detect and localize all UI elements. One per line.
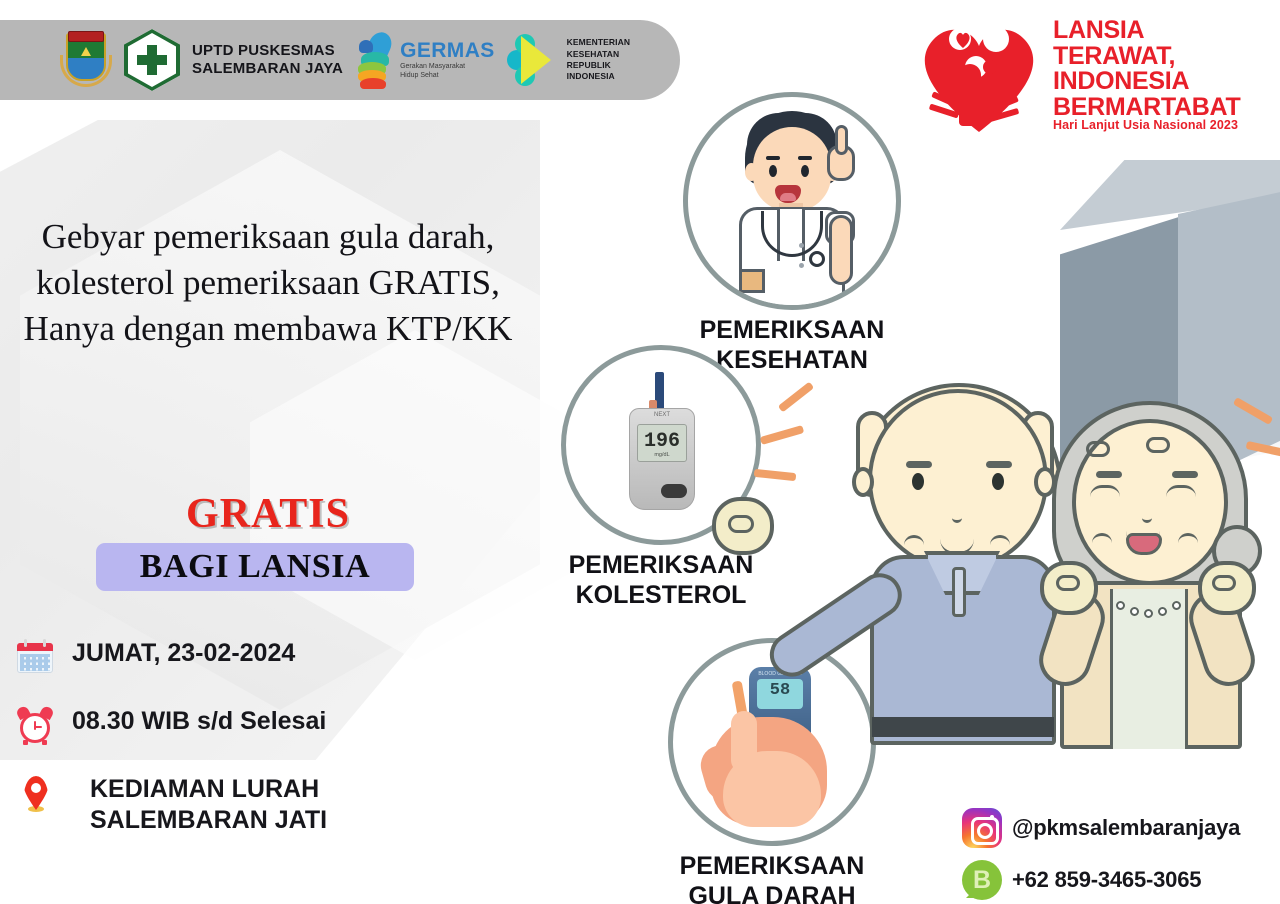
event-time-text: 08.30 WIB s/d Selesai (72, 704, 326, 737)
germas-sub-line-2: Hidup Sehat (400, 72, 495, 81)
map-pin-icon (14, 772, 56, 814)
main-headline: Gebyar pemeriksaan gula darah, kolestero… (18, 214, 518, 353)
campaign-line-3: INDONESIA (1053, 69, 1240, 95)
bagi-lansia-badge: BAGI LANSIA (96, 543, 414, 591)
event-details: JUMAT, 23-02-2024 08.30 WIB s/d Selesai … (14, 636, 484, 863)
campaign-wordmark: LANSIA TERAWAT, INDONESIA BERMARTABAT (1053, 18, 1240, 120)
puskesmas-logo (124, 29, 180, 91)
kemenkes-line-4: INDONESIA (567, 71, 630, 82)
kemenkes-line-3: REPUBLIK (567, 60, 630, 71)
event-location-row: KEDIAMAN LURAH SALEMBARAN JATI (14, 772, 484, 837)
alarm-clock-icon (14, 704, 56, 746)
calendar-icon (14, 636, 56, 678)
heart-family-icon (905, 6, 1055, 134)
instagram-row[interactable]: @pkmsalembaranjaya (962, 808, 1274, 848)
whatsapp-number[interactable]: +62 859-3465-3065 (1012, 867, 1201, 893)
kabupaten-crest-icon (60, 29, 112, 91)
campaign-line-2: TERAWAT, (1053, 44, 1240, 70)
campaign-line-1: LANSIA (1053, 18, 1240, 44)
campaign-logo: LANSIA TERAWAT, INDONESIA BERMARTABAT Ha… (905, 6, 1280, 136)
service-cholesterol-check: NEXT 196 mg/dL PEMERIKSAAN KOLESTEROL (546, 345, 776, 610)
puskesmas-hexagon-cross-icon (124, 29, 180, 91)
gratis-heading: GRATIS (18, 490, 518, 538)
kemenkes-line-2: KESEHATAN (567, 49, 630, 60)
puskesmas-line-2: SALEMBARAN JAYA (192, 60, 343, 78)
event-time-row: 08.30 WIB s/d Selesai (14, 704, 484, 746)
contact-block: @pkmsalembaranjaya B +62 859-3465-3065 (962, 808, 1274, 904)
cholesterol-reading: 196 (639, 430, 685, 453)
germas-figure-icon (355, 32, 395, 88)
event-location-text: KEDIAMAN LURAH SALEMBARAN JATI (72, 772, 484, 837)
kemenkes-line-1: KEMENTERIAN (567, 37, 630, 48)
whatsapp-business-icon[interactable]: B (962, 860, 1002, 900)
campaign-line-4: BERMARTABAT (1053, 95, 1240, 121)
event-date-row: JUMAT, 23-02-2024 (14, 636, 484, 678)
service-glucose-caption: PEMERIKSAAN GULA DARAH (652, 852, 892, 904)
campaign-subtitle: Hari Lanjut Usia Nasional 2023 (1053, 118, 1238, 132)
doctor-icon (683, 92, 901, 310)
kemenkes-logo: KEMENTERIAN KESEHATAN REPUBLIK INDONESIA (507, 34, 630, 86)
instagram-handle[interactable]: @pkmsalembaranjaya (1012, 815, 1240, 841)
bagi-lansia-label: BAGI LANSIA (140, 548, 371, 586)
service-cholesterol-caption: PEMERIKSAAN KOLESTEROL (546, 551, 776, 610)
kabupaten-crest-logo (60, 29, 112, 91)
germas-title: GERMAS (400, 40, 495, 61)
kemenkes-chevron-icon (507, 34, 561, 86)
germas-sub-line-1: Gerakan Masyarakat (400, 63, 495, 72)
header-logo-bar: UPTD PUSKESMAS SALEMBARAN JAYA GERMAS Ge… (0, 20, 680, 100)
elderly-couple-illustration (760, 375, 1280, 805)
puskesmas-name: UPTD PUSKESMAS SALEMBARAN JAYA (192, 42, 343, 79)
event-date-text: JUMAT, 23-02-2024 (72, 636, 295, 669)
instagram-icon[interactable] (962, 808, 1002, 848)
kemenkes-name: KEMENTERIAN KESEHATAN REPUBLIK INDONESIA (567, 37, 630, 83)
puskesmas-line-1: UPTD PUSKESMAS (192, 42, 343, 60)
service-health-check: PEMERIKSAAN KESEHATAN (672, 92, 912, 375)
whatsapp-row[interactable]: B +62 859-3465-3065 (962, 860, 1274, 900)
germas-logo: GERMAS Gerakan Masyarakat Hidup Sehat (355, 32, 495, 88)
germas-wordmark: GERMAS Gerakan Masyarakat Hidup Sehat (400, 40, 495, 80)
poster-canvas: UPTD PUSKESMAS SALEMBARAN JAYA GERMAS Ge… (0, 0, 1280, 904)
cholesterol-reading-unit: mg/dL (637, 452, 687, 458)
